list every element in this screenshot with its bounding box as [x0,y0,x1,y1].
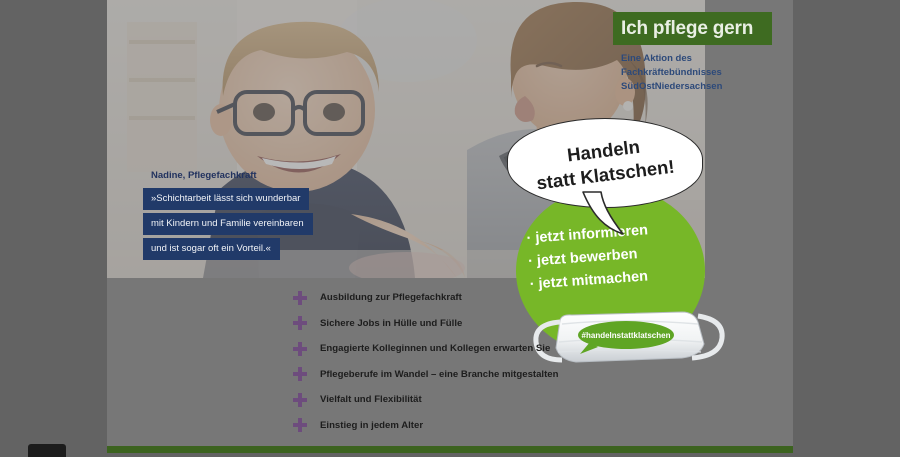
bottom-green-bar [107,446,793,453]
speech-bubble: Handeln statt Klatschen! [507,118,703,208]
bullet-dot-icon: · [526,230,532,246]
benefit-row: Ausbildung zur Pflegefachkraft [293,285,723,311]
benefits-list: Ausbildung zur Pflegefachkraft Sichere J… [293,285,723,438]
plus-icon [293,342,307,356]
benefit-row: Pflegeberufe im Wandel – eine Branche mi… [293,362,723,388]
plus-icon [293,418,307,432]
testimonial: Nadine, Pflegefachkraft »Schichtarbeit l… [143,170,393,263]
benefit-row: Vielfalt und Flexibilität [293,387,723,413]
brand-headline: Ich pflege gern [613,18,753,40]
benefit-label: Engagierte Kolleginnen und Kollegen erwa… [320,343,550,354]
benefit-row: Sichere Jobs in Hülle und Fülle [293,311,723,337]
brand-subline-3: SüdOstNiedersachsen [621,80,791,94]
page-root: Ich pflege gern Eine Aktion des Fachkräf… [0,0,900,453]
testimonial-quote-line: mit Kindern und Familie vereinbaren [143,213,313,235]
testimonial-quote-line: »Schichtarbeit lässt sich wunderbar [143,188,309,210]
plus-icon [293,393,307,407]
speech-bubble-text: Handeln statt Klatschen! [502,106,708,219]
plus-icon [293,291,307,305]
brand-subline: Eine Aktion des Fachkräftebündnisses Süd… [621,52,791,95]
bullet-dot-icon: · [528,253,534,269]
content-column: Ich pflege gern Eine Aktion des Fachkräf… [107,0,793,453]
action-item-label: jetzt bewerben [536,246,638,269]
testimonial-quote-line: und ist sogar oft ein Vorteil.« [143,238,280,260]
benefit-label: Vielfalt und Flexibilität [320,394,422,405]
benefit-label: Ausbildung zur Pflegefachkraft [320,292,462,303]
brand-subline-2: Fachkräftebündnisses [621,66,791,80]
benefit-label: Sichere Jobs in Hülle und Fülle [320,318,462,329]
benefit-label: Pflegeberufe im Wandel – eine Branche mi… [320,369,559,380]
benefit-row: Engagierte Kolleginnen und Kollegen erwa… [293,336,723,362]
plus-icon [293,316,307,330]
benefit-row: Einstieg in jedem Alter [293,413,723,439]
benefit-label: Einstieg in jedem Alter [320,420,423,431]
brand-subline-1: Eine Aktion des [621,52,791,66]
testimonial-name: Nadine, Pflegefachkraft [151,170,393,181]
brand-banner: Ich pflege gern [613,12,772,45]
corner-chip[interactable] [28,444,66,457]
plus-icon [293,367,307,381]
